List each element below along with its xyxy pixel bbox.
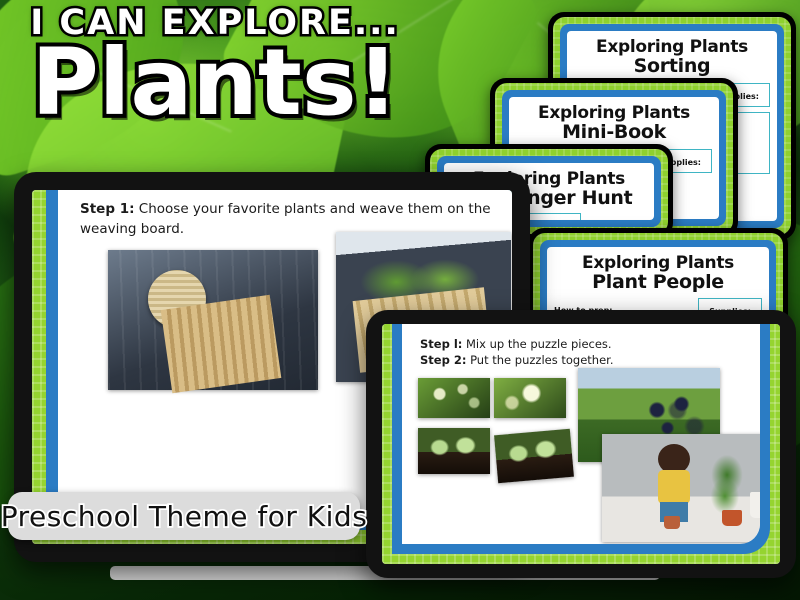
photo-weaving-board-with-twine xyxy=(108,250,318,390)
terracotta-pot xyxy=(664,516,680,529)
card-paper: Exploring Plants Plant People How to pre… xyxy=(547,247,769,314)
card-title-line2: Plant People xyxy=(547,272,769,292)
step-text: Put the puzzles together. xyxy=(466,353,613,367)
slide-content-front: Step l: Mix up the puzzle pieces. Step 2… xyxy=(402,324,760,544)
poster-canvas: I CAN EXPLORE... Plants! Exploring Plant… xyxy=(0,0,800,600)
card-title-line2: Mini-Book xyxy=(509,122,719,142)
photo-bokeh-greenery-2 xyxy=(494,378,566,418)
step-label: Step l: xyxy=(420,337,462,351)
tablet-device-front[interactable]: Step l: Mix up the puzzle pieces. Step 2… xyxy=(366,310,796,578)
terracotta-pot xyxy=(722,510,742,526)
subtitle-text: Preschool Theme for Kids xyxy=(1,500,368,533)
potted-plant-foliage xyxy=(706,454,748,514)
cardboard-loom xyxy=(161,295,282,393)
poster-headline: I CAN EXPLORE... Plants! xyxy=(0,6,430,126)
page-title: Plants! xyxy=(0,39,430,126)
subtitle-banner: Preschool Theme for Kids xyxy=(8,492,360,540)
card-title-line2: Sorting xyxy=(567,56,777,76)
photo-seedling-sprouts-2 xyxy=(494,429,574,483)
person-shirt xyxy=(658,470,690,504)
step-label: Step 2: xyxy=(420,353,466,367)
card-title-line1: Exploring Plants xyxy=(567,31,777,56)
photo-woman-potting-plants xyxy=(602,434,760,542)
photo-bokeh-greenery-1 xyxy=(418,378,490,418)
step-label: Step 1: xyxy=(80,201,135,217)
card-title-line1: Exploring Plants xyxy=(509,97,719,122)
photo-seedling-sprouts-1 xyxy=(418,428,490,474)
tablet-screen-front: Step l: Mix up the puzzle pieces. Step 2… xyxy=(382,324,780,564)
white-pot xyxy=(750,492,760,518)
step-text: Mix up the puzzle pieces. xyxy=(462,337,611,351)
card-title-line1: Exploring Plants xyxy=(547,247,769,272)
